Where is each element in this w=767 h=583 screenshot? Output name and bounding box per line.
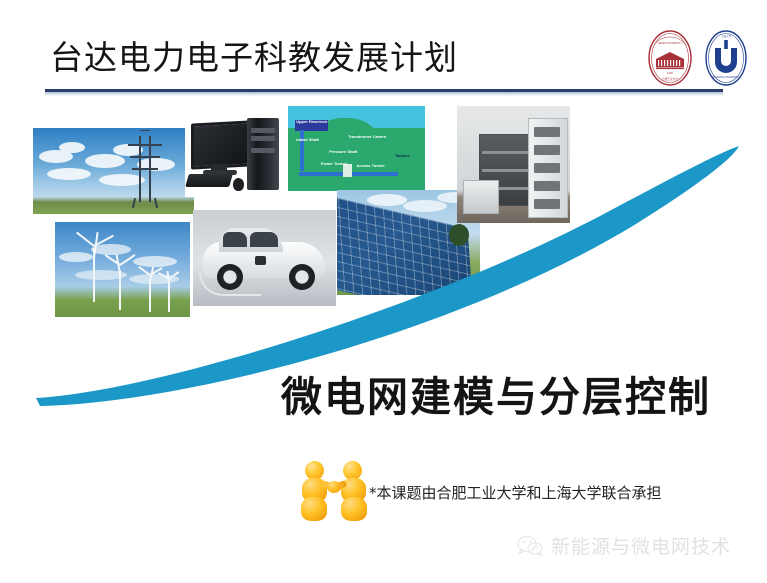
partnership-handshake-icon bbox=[297, 455, 373, 527]
photo-microgrid-laboratory bbox=[457, 106, 570, 223]
slide-header: 台达电力电子科教发展计划 bbox=[0, 0, 767, 96]
photo-desktop-computer bbox=[185, 112, 295, 197]
logo-group: HEFEI UNIVERSITY 1945 合肥工业大学 上海大学 SHANGH… bbox=[645, 28, 757, 90]
svg-text:上海大学: 上海大学 bbox=[721, 34, 732, 38]
svg-text:合肥工业大学: 合肥工业大学 bbox=[662, 77, 678, 81]
main-title: 微电网建模与分层控制 bbox=[281, 363, 711, 423]
photo-wind-farm bbox=[55, 222, 190, 317]
image-collage: Upper Reservoir Intake Shaft Power Tunne… bbox=[0, 96, 767, 346]
photo-pumped-hydro-diagram: Upper Reservoir Intake Shaft Power Tunne… bbox=[288, 106, 425, 191]
photo-electric-vehicle bbox=[193, 210, 336, 306]
hydro-label-intake-shaft: Intake Shaft bbox=[296, 138, 319, 143]
hydro-label-access-tunnel: Access Tunnel bbox=[357, 164, 385, 169]
shanghai-university-logo: 上海大学 SHANGHAI UNIVERSITY bbox=[701, 28, 751, 88]
footnote: *本课题由合肥工业大学和上海大学联合承担 bbox=[369, 482, 662, 503]
wechat-icon bbox=[517, 535, 543, 557]
slide-canvas: 台达电力电子科教发展计划 bbox=[0, 0, 767, 583]
page-title: 台达电力电子科教发展计划 bbox=[50, 31, 458, 79]
hydro-label-upper-reservoir: Upper Reservoir bbox=[296, 120, 327, 125]
hydro-label-power-tunnel: Power Tunnel bbox=[321, 162, 347, 167]
svg-text:HEFEI UNIVERSITY: HEFEI UNIVERSITY bbox=[658, 41, 682, 45]
wechat-watermark: 新能源与微电网技术 bbox=[517, 532, 731, 559]
photo-transmission-tower bbox=[33, 128, 194, 214]
svg-text:SHANGHAI UNIVERSITY: SHANGHAI UNIVERSITY bbox=[712, 76, 741, 79]
hefei-university-of-technology-logo: HEFEI UNIVERSITY 1945 合肥工业大学 bbox=[645, 28, 695, 88]
hydro-label-transformer-cavern: Transformer Cavern bbox=[348, 135, 386, 140]
watermark-text: 新能源与微电网技术 bbox=[551, 532, 731, 559]
hydro-label-tailrace: Tailrace bbox=[395, 154, 410, 159]
hydro-label-pressure-shaft: Pressure Shaft bbox=[329, 150, 357, 155]
svg-text:1945: 1945 bbox=[667, 71, 673, 75]
